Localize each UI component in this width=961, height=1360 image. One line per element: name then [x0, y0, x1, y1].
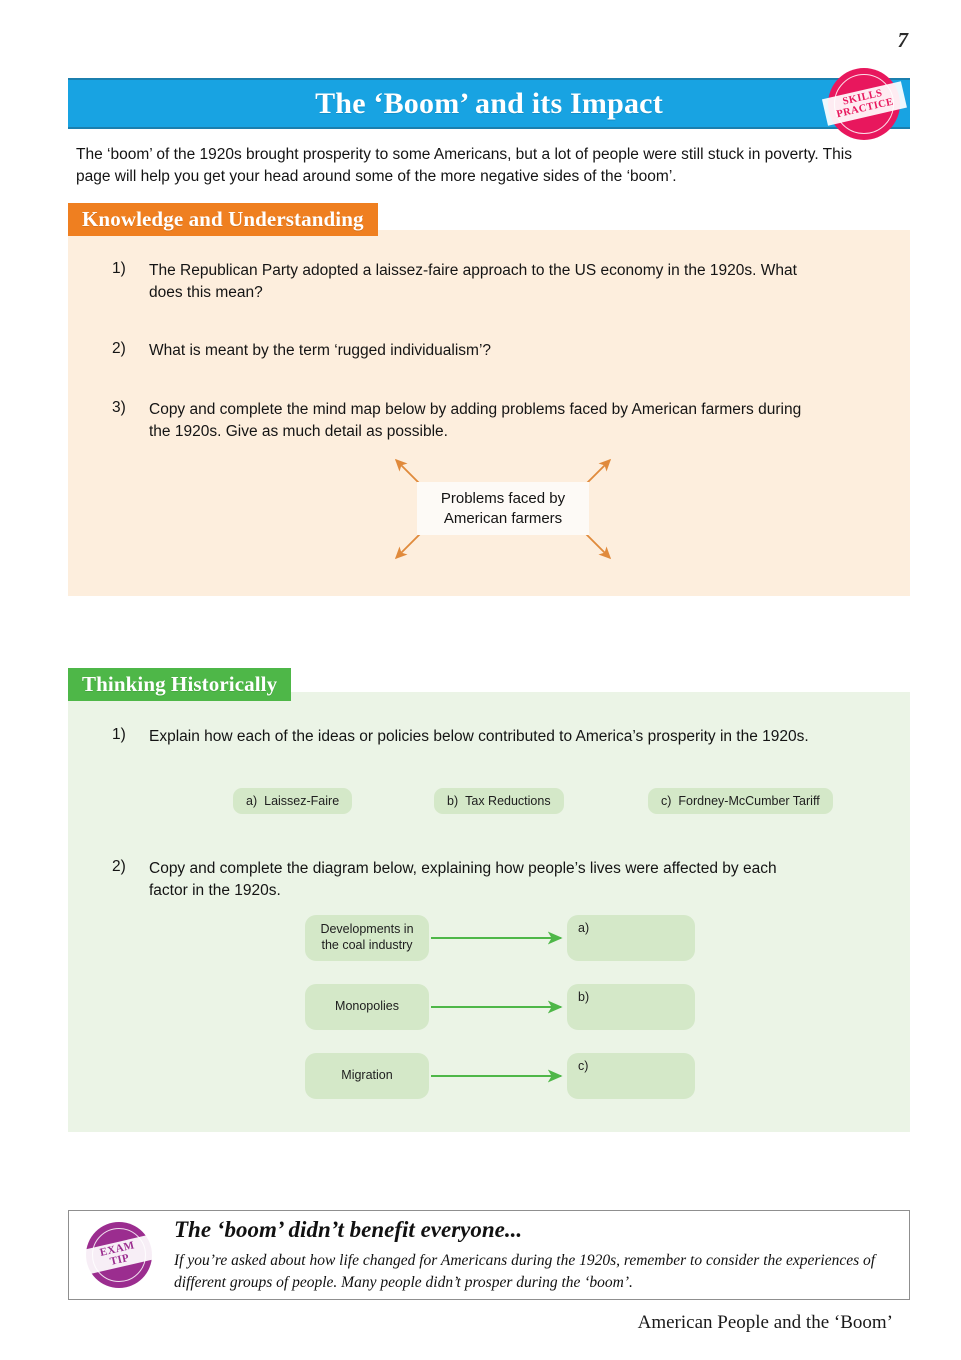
factor-box-3: Migration	[305, 1053, 429, 1099]
knowledge-question-1: 1) The Republican Party adopted a laisse…	[112, 260, 812, 304]
exam-tip-body: If you’re asked about how life changed f…	[174, 1250, 892, 1295]
answer-box-c[interactable]: c)	[567, 1053, 695, 1099]
pill-label: Tax Reductions	[465, 794, 550, 808]
answer-letter: b)	[578, 990, 589, 1004]
mind-map-centre-node: Problems faced by American farmers	[417, 482, 589, 535]
knowledge-banner: Knowledge and Understanding	[68, 203, 378, 236]
question-number: 1)	[112, 726, 149, 748]
question-text: What is meant by the term ‘rugged indivi…	[149, 340, 491, 362]
question-number: 1)	[112, 260, 149, 304]
exam-tip-stamp-icon: EXAM TIP	[86, 1222, 152, 1288]
factor-box-1: Developments in the coal industry	[305, 915, 429, 961]
pill-letter: a)	[246, 794, 257, 808]
question-text: Copy and complete the diagram below, exp…	[149, 858, 812, 902]
answer-letter: a)	[578, 921, 589, 935]
thinking-question-1: 1) Explain how each of the ideas or poli…	[112, 726, 812, 748]
question-text: Explain how each of the ideas or policie…	[149, 726, 809, 748]
factor-effect-diagram: Developments in the coal industry a) Mon…	[305, 915, 695, 1105]
skills-practice-stamp-icon: SKILLS PRACTICE	[828, 68, 900, 140]
policy-pill-b: b) Tax Reductions	[434, 788, 564, 814]
question-number: 2)	[112, 340, 149, 362]
policy-pill-c: c) Fordney-McCumber Tariff	[648, 788, 833, 814]
mind-map-centre-line1: Problems faced by	[441, 489, 565, 509]
page-title-bar: The ‘Boom’ and its Impact	[68, 78, 910, 129]
factor-line1: Migration	[341, 1068, 392, 1084]
factor-box-2: Monopolies	[305, 984, 429, 1030]
knowledge-question-3: 3) Copy and complete the mind map below …	[112, 399, 812, 443]
thinking-banner-label: Thinking Historically	[82, 672, 277, 697]
farmers-mind-map: Problems faced by American farmers	[380, 452, 625, 567]
intro-paragraph: The ‘boom’ of the 1920s brought prosperi…	[76, 144, 876, 188]
answer-letter: c)	[578, 1059, 588, 1073]
factor-line1: Developments in	[320, 922, 413, 938]
factor-line2: the coal industry	[321, 938, 412, 954]
knowledge-banner-label: Knowledge and Understanding	[82, 207, 364, 232]
answer-box-b[interactable]: b)	[567, 984, 695, 1030]
pill-letter: b)	[447, 794, 458, 808]
mind-map-centre-line2: American farmers	[444, 509, 562, 529]
question-text: The Republican Party adopted a laissez-f…	[149, 260, 812, 304]
answer-box-a[interactable]: a)	[567, 915, 695, 961]
question-number: 2)	[112, 858, 149, 902]
page-number: 7	[898, 28, 909, 53]
question-text: Copy and complete the mind map below by …	[149, 399, 812, 443]
policy-pill-a: a) Laissez-Faire	[233, 788, 352, 814]
pill-letter: c)	[661, 794, 671, 808]
thinking-banner: Thinking Historically	[68, 668, 291, 701]
knowledge-question-2: 2) What is meant by the term ‘rugged ind…	[112, 340, 812, 362]
exam-tip-heading: The ‘boom’ didn’t benefit everyone...	[174, 1217, 522, 1243]
thinking-question-2: 2) Copy and complete the diagram below, …	[112, 858, 812, 902]
pill-label: Laissez-Faire	[264, 794, 339, 808]
pill-label: Fordney-McCumber Tariff	[678, 794, 819, 808]
page-footer: American People and the ‘Boom’	[638, 1312, 893, 1334]
factor-line1: Monopolies	[335, 999, 399, 1015]
question-number: 3)	[112, 399, 149, 443]
page-title: The ‘Boom’ and its Impact	[315, 87, 663, 121]
